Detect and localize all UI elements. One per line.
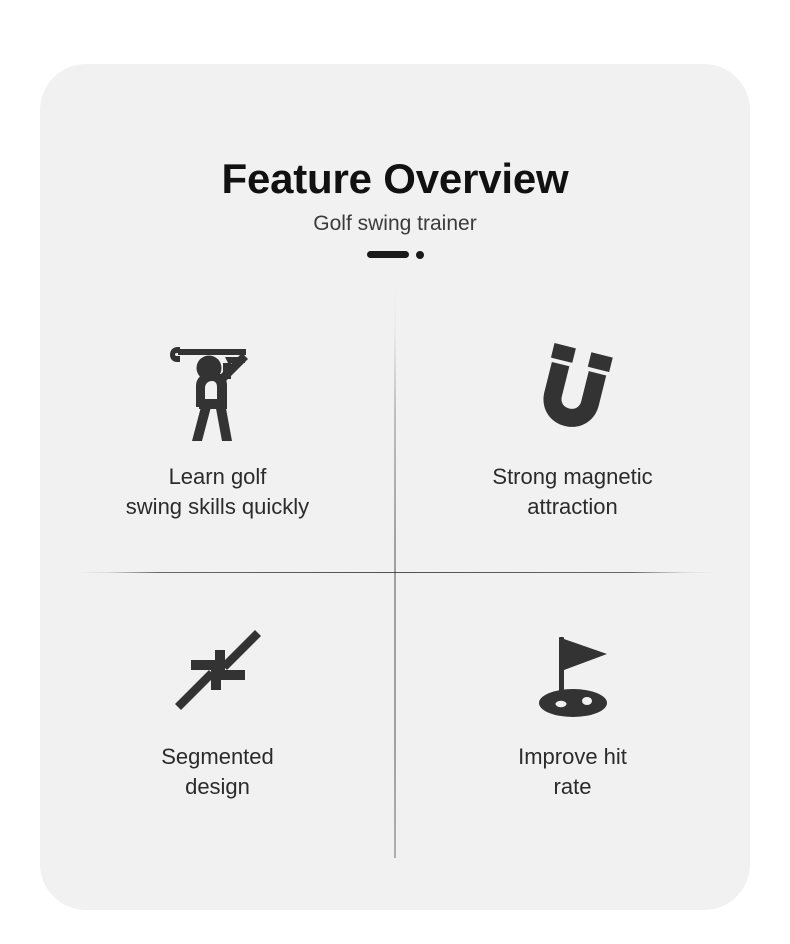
feature-label: Strong magnetic attraction [492,462,652,523]
feature-label: Improve hit rate [518,742,627,803]
accent-dot-icon [416,251,424,259]
feature-cell-learn-golf-swing: Learn golf swing skills quickly [40,292,395,572]
feature-cell-improve-hit-rate: Improve hit rate [395,572,750,852]
feature-cell-segmented-design: Segmented design [40,572,395,852]
feature-grid: Learn golf swing skills quickly [40,292,750,852]
feature-label: Learn golf swing skills quickly [126,462,309,523]
golf-flag-hole-icon [523,614,623,732]
page-subtitle: Golf swing trainer [40,211,750,236]
magnet-icon [521,334,625,452]
feature-label: Segmented design [161,742,274,803]
compress-arrows-icon [169,614,267,732]
page-title: Feature Overview [40,156,750,201]
golfer-swing-icon [166,334,270,452]
header-accent-decoration [40,251,750,259]
accent-bar-icon [367,251,409,258]
feature-overview-card: Feature Overview Golf swing trainer [40,64,750,910]
feature-cell-strong-magnetic: Strong magnetic attraction [395,292,750,572]
card-header: Feature Overview Golf swing trainer [40,156,750,259]
page-root: Feature Overview Golf swing trainer [0,0,790,944]
